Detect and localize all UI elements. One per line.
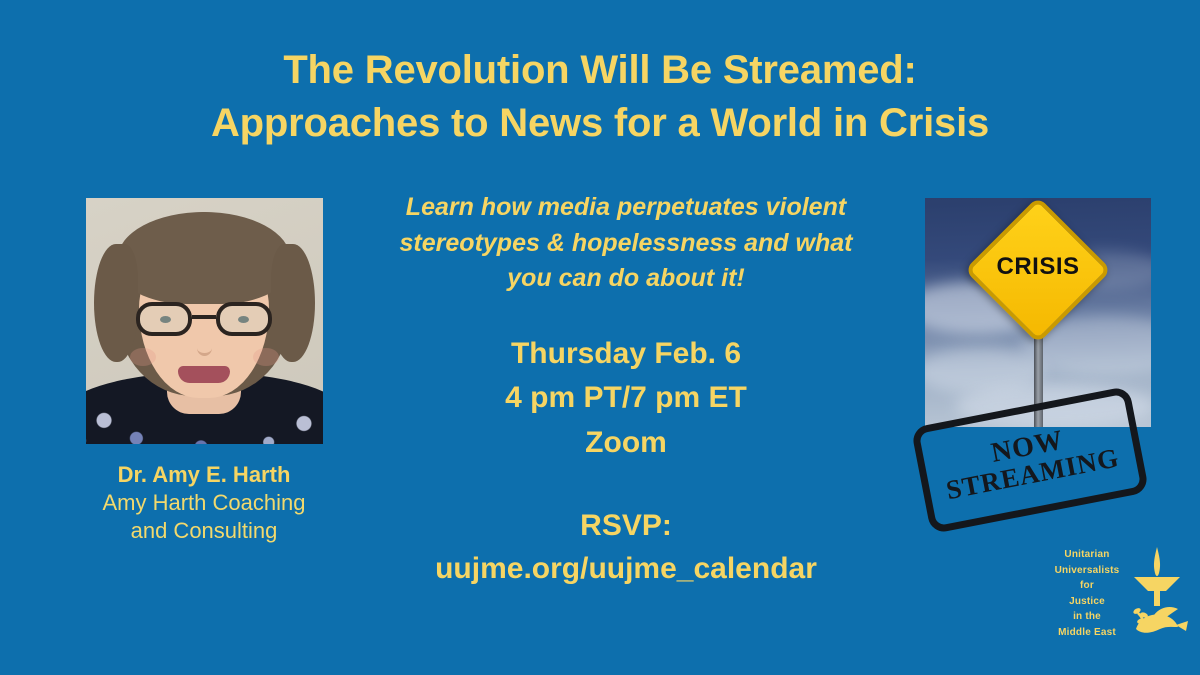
subtitle: Learn how media perpetuates violent ster… xyxy=(348,190,904,297)
event-flyer: The Revolution Will Be Streamed: Approac… xyxy=(0,0,1200,675)
photo-nose xyxy=(197,340,212,356)
rsvp-url[interactable]: uujme.org/uujme_calendar xyxy=(348,548,904,591)
logo-line-6: Middle East xyxy=(1046,625,1128,641)
rsvp-label: RSVP: xyxy=(348,505,904,548)
speaker-name: Dr. Amy E. Harth xyxy=(36,461,372,489)
flaming-chalice-dove-icon xyxy=(1126,543,1188,639)
event-platform: Zoom xyxy=(348,421,904,465)
photo-hair-left xyxy=(94,244,138,362)
photo-hair-top xyxy=(118,212,290,304)
photo-mouth xyxy=(178,366,230,383)
glasses-bridge xyxy=(192,315,216,319)
glasses-lens-right xyxy=(216,302,272,336)
logo-line-4: Justice xyxy=(1046,594,1128,610)
speaker-affiliation: Amy Harth Coaching and Consulting xyxy=(36,489,372,545)
subtitle-line-3: you can do about it! xyxy=(348,261,904,297)
rsvp-block: RSVP: uujme.org/uujme_calendar xyxy=(348,505,904,590)
glasses-lens-left xyxy=(136,302,192,336)
event-date: Thursday Feb. 6 xyxy=(348,332,904,376)
title-line-1: The Revolution Will Be Streamed: xyxy=(0,44,1200,97)
event-time: 4 pm PT/7 pm ET xyxy=(348,376,904,420)
logo-line-3: for xyxy=(1046,578,1128,594)
uujme-logo: Unitarian Universalists for Justice in t… xyxy=(1046,543,1188,639)
logo-line-1: Unitarian xyxy=(1046,547,1128,563)
speaker-block: Dr. Amy E. Harth Amy Harth Coaching and … xyxy=(36,198,372,545)
speaker-affiliation-line-2: and Consulting xyxy=(131,518,278,543)
photo-hair-right xyxy=(271,244,315,362)
crisis-image-block: CRISIS NOW STREAMING xyxy=(925,198,1151,427)
page-title: The Revolution Will Be Streamed: Approac… xyxy=(0,44,1200,150)
photo-cheek-left xyxy=(130,348,156,366)
event-details: Thursday Feb. 6 4 pm PT/7 pm ET Zoom xyxy=(348,332,904,465)
subtitle-line-1: Learn how media perpetuates violent xyxy=(348,190,904,226)
subtitle-line-2: stereotypes & hopelessness and what xyxy=(348,226,904,262)
uujme-logo-text: Unitarian Universalists for Justice in t… xyxy=(1046,547,1128,640)
speaker-affiliation-line-1: Amy Harth Coaching xyxy=(103,490,306,515)
logo-line-2: Universalists xyxy=(1046,563,1128,579)
photo-cheek-right xyxy=(253,348,279,366)
speaker-photo xyxy=(86,198,323,444)
title-line-2: Approaches to News for a World in Crisis xyxy=(0,97,1200,150)
logo-line-5: in the xyxy=(1046,609,1128,625)
glasses-icon xyxy=(136,302,272,336)
crisis-sign-label: CRISIS xyxy=(968,253,1108,281)
